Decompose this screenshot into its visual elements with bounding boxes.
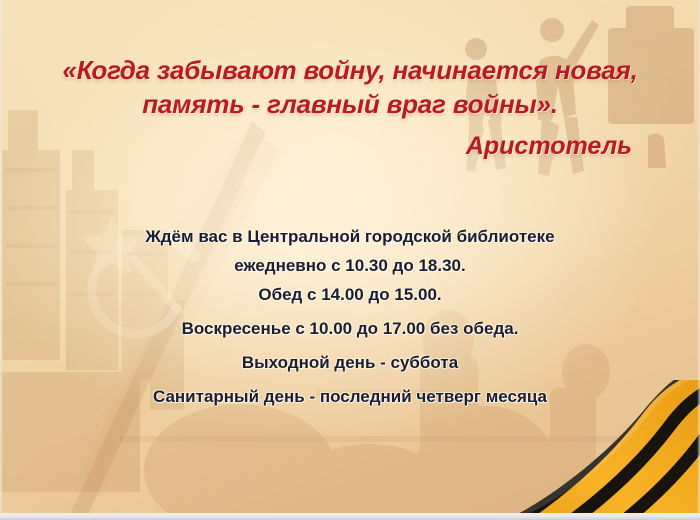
quote-line-1: «Когда забывают войну, начинается новая,: [40, 54, 660, 88]
schedule-line-lunch: Обед с 14.00 до 15.00.: [40, 286, 660, 320]
schedule-line-sanitary-day: Санитарный день - последний четверг меся…: [40, 388, 660, 417]
poster-content: «Когда забывают войну, начинается новая,…: [0, 0, 700, 520]
schedule-line-location: Ждём вас в Центральной городской библиот…: [40, 228, 660, 257]
schedule-line-day-off: Выходной день - суббота: [40, 354, 660, 388]
quote-line-2: память - главный враг войны».: [40, 88, 660, 122]
quote-author: Аристотель: [40, 132, 660, 161]
frame-edge-bottom: [0, 513, 700, 520]
schedule-line-sunday: Воскресенье с 10.00 до 17.00 без обеда.: [40, 320, 660, 354]
quote-block: «Когда забывают войну, начинается новая,…: [40, 54, 660, 161]
frame-edge-left: [0, 0, 3, 520]
schedule-block: Ждём вас в Центральной городской библиот…: [40, 228, 660, 417]
memorial-poster: «Когда забывают войну, начинается новая,…: [0, 0, 700, 520]
schedule-line-daily-hours: ежедневно с 10.30 до 18.30.: [40, 257, 660, 286]
